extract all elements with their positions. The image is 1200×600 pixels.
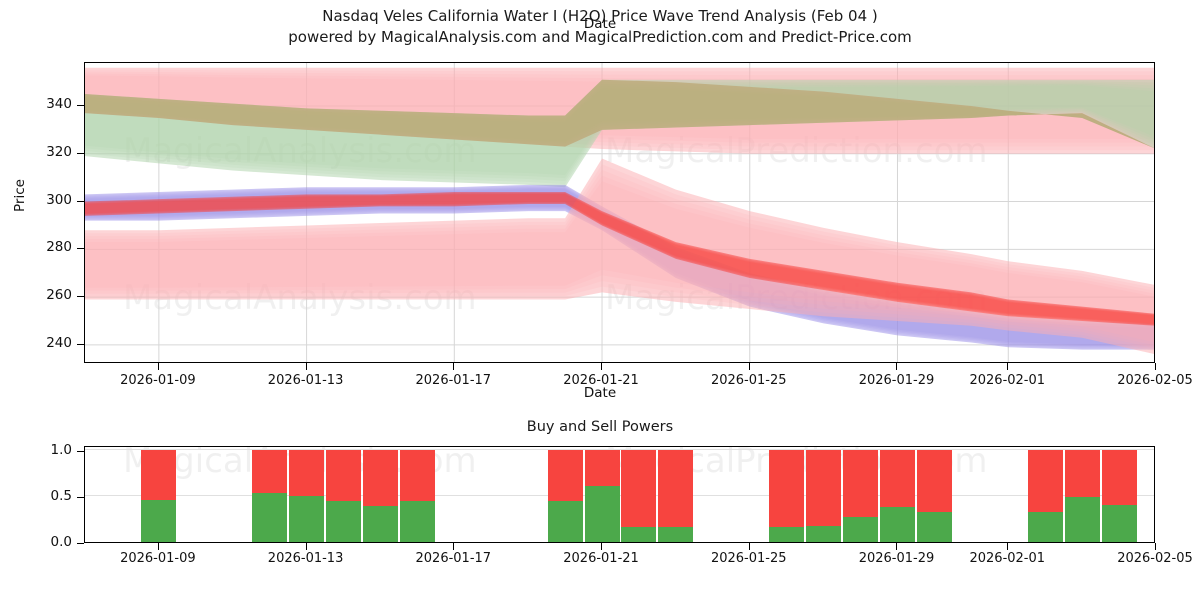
sell-power-segment (769, 450, 804, 528)
sell-power-segment (1065, 450, 1100, 497)
sub-y-tick-mark (77, 497, 84, 498)
sub-x-tick-mark (158, 543, 159, 550)
sell-power-segment (585, 450, 620, 486)
main-y-tick-label: 340 (20, 96, 72, 112)
sub-x-tick-mark (453, 543, 454, 550)
sell-power-segment (621, 450, 656, 528)
main-y-tick-mark (77, 248, 84, 249)
signal-bar[interactable] (141, 450, 176, 542)
main-x-tick-mark (1007, 363, 1008, 370)
sell-power-segment (363, 450, 398, 506)
sub-y-tick-mark (77, 543, 84, 544)
signal-bar[interactable] (252, 450, 287, 542)
buy-power-segment (769, 527, 804, 542)
sell-power-segment (880, 450, 915, 507)
buy-power-segment (917, 512, 952, 542)
sell-power-segment (548, 450, 583, 502)
buy-power-segment (326, 501, 361, 542)
sub-x-tick-label: 2026-01-17 (416, 551, 492, 566)
main-x-axis-label: Date (0, 385, 1200, 401)
main-x-tick-mark (306, 363, 307, 370)
sell-power-segment (1102, 450, 1137, 505)
sell-power-segment (252, 450, 287, 493)
main-y-tick-mark (77, 296, 84, 297)
buy-sell-powers-plot-area[interactable]: MagicalAnalysis.com MagicalPrediction.co… (84, 446, 1155, 543)
sub-x-tick-label: 2026-01-21 (563, 551, 639, 566)
buy-power-segment (1028, 512, 1063, 542)
main-y-tick-mark (77, 105, 84, 106)
sell-power-segment (806, 450, 841, 527)
sell-power-segment (843, 450, 878, 517)
signal-bar[interactable] (548, 450, 583, 542)
price-wave-chart-plot-area[interactable]: MagicalAnalysis.com MagicalPrediction.co… (84, 62, 1155, 363)
sell-power-segment (289, 450, 324, 496)
buy-power-segment (1065, 497, 1100, 542)
sell-power-segment (400, 450, 435, 502)
main-y-tick-mark (77, 201, 84, 202)
signal-bar[interactable] (880, 450, 915, 542)
main-y-tick-label: 280 (20, 239, 72, 255)
sub-x-tick-mark (306, 543, 307, 550)
signal-bar[interactable] (806, 450, 841, 542)
sub-x-tick-mark (1155, 543, 1156, 550)
main-x-tick-mark (601, 363, 602, 370)
signal-bar[interactable] (1065, 450, 1100, 542)
buy-power-segment (141, 500, 176, 542)
signal-bar[interactable] (326, 450, 361, 542)
sub-x-tick-mark (1007, 543, 1008, 550)
sub-y-tick-label: 0.5 (16, 488, 72, 504)
signal-bar[interactable] (621, 450, 656, 542)
main-x-tick-mark (896, 363, 897, 370)
buy-power-segment (1102, 505, 1137, 542)
main-y-tick-label: 260 (20, 287, 72, 303)
main-x-tick-mark (749, 363, 750, 370)
buy-power-segment (843, 517, 878, 542)
buy-power-segment (252, 493, 287, 542)
sell-power-segment (658, 450, 693, 528)
main-y-tick-label: 300 (20, 192, 72, 208)
main-y-tick-label: 320 (20, 144, 72, 160)
signal-bar[interactable] (1028, 450, 1063, 542)
main-x-tick-mark (1155, 363, 1156, 370)
sub-x-tick-label: 2026-02-05 (1117, 551, 1193, 566)
main-y-tick-mark (77, 344, 84, 345)
main-x-tick-mark (158, 363, 159, 370)
signal-bar[interactable] (363, 450, 398, 542)
signal-bar[interactable] (658, 450, 693, 542)
sub-x-tick-label: 2026-01-13 (268, 551, 344, 566)
sub-x-tick-mark (896, 543, 897, 550)
sub-x-tick-label: 2026-02-01 (969, 551, 1045, 566)
sell-power-segment (1028, 450, 1063, 513)
sub-x-tick-label: 2026-01-25 (711, 551, 787, 566)
sub-x-tick-label: 2026-01-29 (859, 551, 935, 566)
sub-x-tick-label: 2026-01-09 (120, 551, 196, 566)
sub-y-tick-mark (77, 451, 84, 452)
buy-power-segment (806, 526, 841, 542)
main-y-tick-label: 240 (20, 335, 72, 351)
price-wave-bands (85, 63, 1155, 363)
buy-power-segment (289, 496, 324, 542)
signal-bar[interactable] (917, 450, 952, 542)
signal-bar[interactable] (289, 450, 324, 542)
chart-title: Nasdaq Veles California Water I (H2O) Pr… (0, 6, 1200, 48)
buy-power-segment (548, 501, 583, 542)
signal-bar[interactable] (400, 450, 435, 542)
sell-power-segment (326, 450, 361, 502)
chart-title-line-1: Nasdaq Veles California Water I (H2O) Pr… (0, 6, 1200, 27)
buy-power-segment (363, 506, 398, 542)
buy-power-segment (400, 501, 435, 542)
buy-power-segment (658, 527, 693, 542)
sell-power-segment (141, 450, 176, 501)
sub-x-tick-mark (601, 543, 602, 550)
buy-power-segment (621, 527, 656, 542)
sub-y-tick-label: 0.0 (16, 534, 72, 550)
sub-y-tick-label: 1.0 (16, 442, 72, 458)
sub-x-tick-mark (749, 543, 750, 550)
signal-bar[interactable] (843, 450, 878, 542)
signal-bar[interactable] (585, 450, 620, 542)
subchart-title: Buy and Sell Powers (0, 419, 1200, 435)
sell-power-segment (917, 450, 952, 513)
buy-power-segment (585, 486, 620, 542)
buy-power-segment (880, 507, 915, 542)
signal-bar[interactable] (769, 450, 804, 542)
main-y-tick-mark (77, 153, 84, 154)
chart-title-line-2: powered by MagicalAnalysis.com and Magic… (0, 27, 1200, 48)
main-x-tick-mark (453, 363, 454, 370)
signal-bar[interactable] (1102, 450, 1137, 542)
